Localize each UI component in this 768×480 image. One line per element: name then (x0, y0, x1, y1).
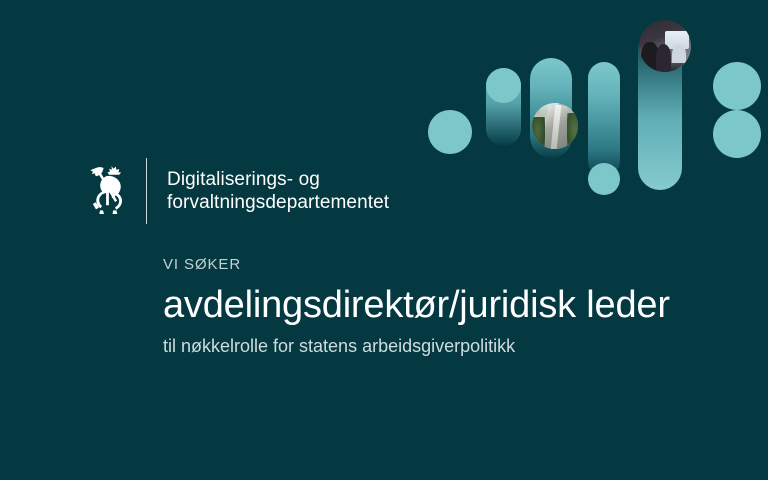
decor-circle-1 (428, 110, 472, 154)
decorative-graphic (420, 0, 768, 215)
ministry-logo-block: Digitaliserings- og forvaltningsdepartem… (86, 158, 389, 224)
recruitment-text-block: VI SØKER avdelingsdirektør/juridisk lede… (163, 255, 743, 358)
roof-tree-right (567, 113, 578, 149)
meeting-person-2 (656, 44, 672, 72)
decor-circle-7 (713, 62, 761, 110)
norwegian-coat-of-arms-icon (86, 160, 132, 222)
decor-circle-5 (588, 163, 620, 195)
decor-pill-4 (588, 62, 620, 177)
photo-meeting-room-image (639, 20, 691, 72)
decor-circle-8 (713, 110, 761, 158)
job-title-headline: avdelingsdirektør/juridisk leder (163, 283, 743, 327)
roof-tree-left (532, 117, 545, 149)
photo-building-roof-image (532, 103, 578, 149)
photo-building-roof (532, 103, 578, 149)
photo-meeting-room (639, 20, 691, 72)
job-subtitle: til nøkkelrolle for statens arbeidsgiver… (163, 334, 743, 358)
ministry-name: Digitaliserings- og forvaltningsdepartem… (167, 168, 389, 214)
eyebrow-label: VI SØKER (163, 255, 743, 275)
logo-divider (146, 158, 147, 224)
decor-pill-2-cap (486, 68, 521, 103)
